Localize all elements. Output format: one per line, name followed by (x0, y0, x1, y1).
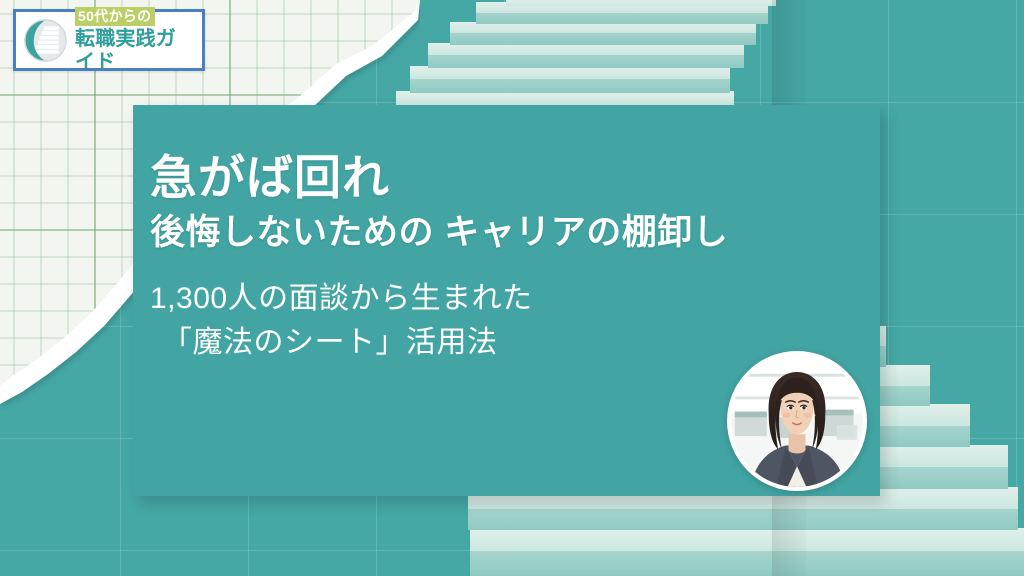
page-subtitle: 後悔しないための キャリアの棚卸し (150, 213, 870, 253)
brand-badge-text: 50代からの 転職実践ガイド (75, 7, 195, 73)
lede-line-1: 1,300人の面談から生まれた (150, 277, 870, 321)
lede-text: 1,300人の面談から生まれた 「魔法のシート」活用法 (150, 277, 870, 366)
stairs-circle-logo-icon (23, 18, 68, 63)
content-card-body: 急がば回れ 後悔しないための キャリアの棚卸し 1,300人の面談から生まれた … (150, 153, 870, 366)
portrait-illustration (731, 355, 863, 487)
avatar (727, 351, 867, 491)
brand-badge-eyebrow: 50代からの (75, 7, 155, 27)
brand-badge[interactable]: 50代からの 転職実践ガイド (13, 9, 205, 71)
slide-root: 急がば回れ 後悔しないための キャリアの棚卸し 1,300人の面談から生まれた … (0, 0, 1024, 576)
brand-badge-title: 転職実践ガイド (75, 28, 195, 73)
page-title: 急がば回れ (150, 153, 870, 204)
